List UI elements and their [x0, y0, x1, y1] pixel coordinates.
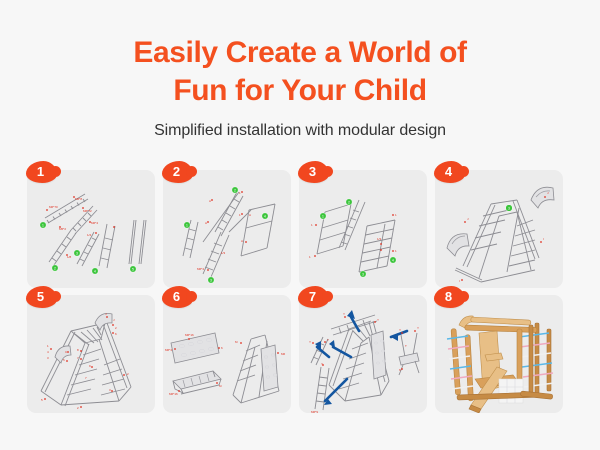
svg-text:2: 2: [127, 372, 129, 376]
title-line-2: Fun for Your Child: [0, 72, 600, 110]
svg-text:1/8: 1/8: [67, 255, 72, 259]
svg-text:5: 5: [132, 267, 134, 271]
svg-text:4: 4: [264, 214, 266, 218]
instruction-sheet: Easily Create a World of Fun for Your Ch…: [0, 0, 600, 450]
step-badge-3: 3: [298, 161, 329, 183]
step-panel-3[interactable]: 1 2 3 4 11 11 1/3 3: [299, 170, 427, 288]
step-number-1: 1: [37, 165, 44, 178]
svg-text:3: 3: [508, 206, 510, 210]
step-panel-2[interactable]: 1 2 3 4 AA 11 AA 1/3M6*4: [163, 170, 291, 288]
svg-text:Y: Y: [399, 328, 401, 332]
svg-text:3: 3: [109, 388, 111, 392]
svg-text:J: J: [113, 318, 115, 322]
svg-text:1: 1: [395, 213, 397, 217]
step-panel-8[interactable]: 8: [435, 295, 563, 413]
svg-text:1: 1: [322, 214, 324, 218]
svg-text:1: 1: [186, 223, 188, 227]
svg-text:Y: Y: [377, 318, 379, 322]
svg-text:4: 4: [94, 269, 96, 273]
accessories-attach-schematic: YY YY YM6*9 YY T6: [299, 295, 427, 413]
svg-text:6: 6: [221, 346, 223, 350]
step-number-8: 8: [445, 290, 452, 303]
svg-text:T: T: [405, 344, 407, 348]
step-badge-4: 4: [434, 161, 465, 183]
svg-text:Y: Y: [343, 312, 345, 316]
step-number-6: 6: [173, 290, 180, 303]
svg-text:A: A: [209, 199, 211, 203]
step-badge-7: 7: [298, 286, 329, 308]
svg-text:1: 1: [42, 223, 44, 227]
svg-text:1: 1: [395, 249, 397, 253]
svg-text:2: 2: [234, 188, 236, 192]
step-panel-6[interactable]: M6*16M6*4 6M6*16 MM M6 6: [163, 295, 291, 413]
svg-text:2: 2: [348, 200, 350, 204]
svg-text:M: M: [219, 384, 222, 388]
svg-text:Y: Y: [417, 326, 419, 330]
svg-text:6: 6: [115, 332, 117, 336]
full-frame-schematic: JJ 26 14 3C 58 75 97 23 2: [27, 295, 155, 413]
step-2-illustration: 1 2 3 4 AA 11 AA 1/3M6*4: [163, 170, 291, 288]
step-badge-8: 8: [434, 286, 465, 308]
svg-text:M6*70: M6*70: [49, 205, 58, 209]
svg-text:3: 3: [362, 272, 364, 276]
svg-text:A: A: [241, 239, 243, 243]
svg-text:Y: Y: [327, 338, 329, 342]
ladder-parts-schematic: 1 2 3 4 5 M6*70M6*8 M6*72M5*2 M6*41/8 1/…: [27, 170, 155, 288]
svg-text:4: 4: [392, 258, 394, 262]
svg-text:I: I: [543, 237, 544, 241]
step-5-illustration: JJ 26 14 3C 58 75 97 23 2: [27, 295, 155, 413]
svg-text:M6*4: M6*4: [197, 267, 204, 271]
svg-text:M6*72: M6*72: [83, 209, 92, 213]
step-badge-6: 6: [162, 286, 193, 308]
svg-text:M6: M6: [281, 352, 285, 356]
svg-text:M6*4: M6*4: [165, 348, 172, 352]
step-badge-2: 2: [162, 161, 193, 183]
svg-text:Y: Y: [309, 340, 311, 344]
header: Easily Create a World of Fun for Your Ch…: [0, 0, 600, 140]
svg-text:M6*16: M6*16: [169, 392, 178, 396]
step-panel-4[interactable]: 3 JJ II 4: [435, 170, 563, 288]
page-subtitle: Simplified installation with modular des…: [0, 122, 600, 140]
step-3-illustration: 1 2 3 4 11 11 1/3: [299, 170, 427, 288]
page-title: Easily Create a World of Fun for Your Ch…: [0, 34, 600, 111]
rock-board-ramp-schematic: M6*16M6*4 6M6*16 MM M6: [163, 295, 291, 413]
svg-text:1/3: 1/3: [221, 251, 226, 255]
step-8-illustration: [435, 295, 563, 413]
svg-text:2: 2: [115, 326, 117, 330]
svg-text:3: 3: [76, 251, 78, 255]
svg-text:1: 1: [239, 191, 241, 195]
svg-text:1/3: 1/3: [377, 237, 382, 241]
svg-text:A: A: [205, 221, 207, 225]
step-panel-5[interactable]: JJ 26 14 3C 58 75 97 23 2: [27, 295, 155, 413]
svg-text:2: 2: [54, 266, 56, 270]
step-panel-7[interactable]: YY YY YM6*9 YY T6 7: [299, 295, 427, 413]
svg-text:M6*16: M6*16: [185, 333, 194, 337]
svg-text:I: I: [459, 279, 460, 283]
svg-text:5: 5: [63, 358, 65, 362]
svg-text:1: 1: [239, 213, 241, 217]
svg-text:M: M: [235, 340, 238, 344]
aframe-raise-schematic: 3 JJ II: [435, 170, 563, 288]
step-number-3: 3: [309, 165, 316, 178]
step-number-7: 7: [309, 290, 316, 303]
svg-text:1/4: 1/4: [87, 233, 92, 237]
step-number-5: 5: [37, 290, 44, 303]
step-7-illustration: YY YY YM6*9 YY T6: [299, 295, 427, 413]
step-1-illustration: 1 2 3 4 5 M6*70M6*8 M6*72M5*2 M6*41/8 1/…: [27, 170, 155, 288]
svg-text:M6*4: M6*4: [91, 221, 98, 225]
finished-playset-render: [435, 295, 563, 413]
svg-text:1: 1: [309, 255, 311, 259]
svg-text:A: A: [249, 213, 251, 217]
step-panel-1[interactable]: 1 2 3 4 5 M6*70M6*8 M6*72M5*2 M6*41/8 1/…: [27, 170, 155, 288]
svg-text:4: 4: [47, 350, 49, 354]
svg-text:5: 5: [41, 398, 43, 402]
svg-text:J: J: [467, 217, 469, 221]
svg-text:M6*8: M6*8: [75, 197, 82, 201]
svg-text:3: 3: [210, 278, 212, 282]
step-number-2: 2: [173, 165, 180, 178]
title-line-1: Easily Create a World of: [133, 36, 466, 69]
side-frames-schematic: 1 2 3 4 AA 11 AA 1/3M6*4: [163, 170, 291, 288]
svg-text:8: 8: [77, 348, 79, 352]
svg-text:1: 1: [311, 223, 313, 227]
step-badge-1: 1: [26, 161, 57, 183]
svg-text:2: 2: [77, 406, 79, 410]
svg-text:7: 7: [85, 376, 87, 380]
svg-text:M6*9: M6*9: [311, 410, 318, 413]
step-number-4: 4: [445, 165, 452, 178]
svg-text:1: 1: [47, 344, 49, 348]
svg-text:9: 9: [89, 364, 91, 368]
step-4-illustration: 3 JJ II: [435, 170, 563, 288]
step-6-illustration: M6*16M6*4 6M6*16 MM M6: [163, 295, 291, 413]
steps-grid: 1 2 3 4 5 M6*70M6*8 M6*72M5*2 M6*41/8 1/…: [27, 170, 573, 413]
svg-text:3: 3: [47, 356, 49, 360]
climbing-panels-schematic: 1 2 3 4 11 11 1/3: [299, 170, 427, 288]
step-badge-5: 5: [26, 286, 57, 308]
